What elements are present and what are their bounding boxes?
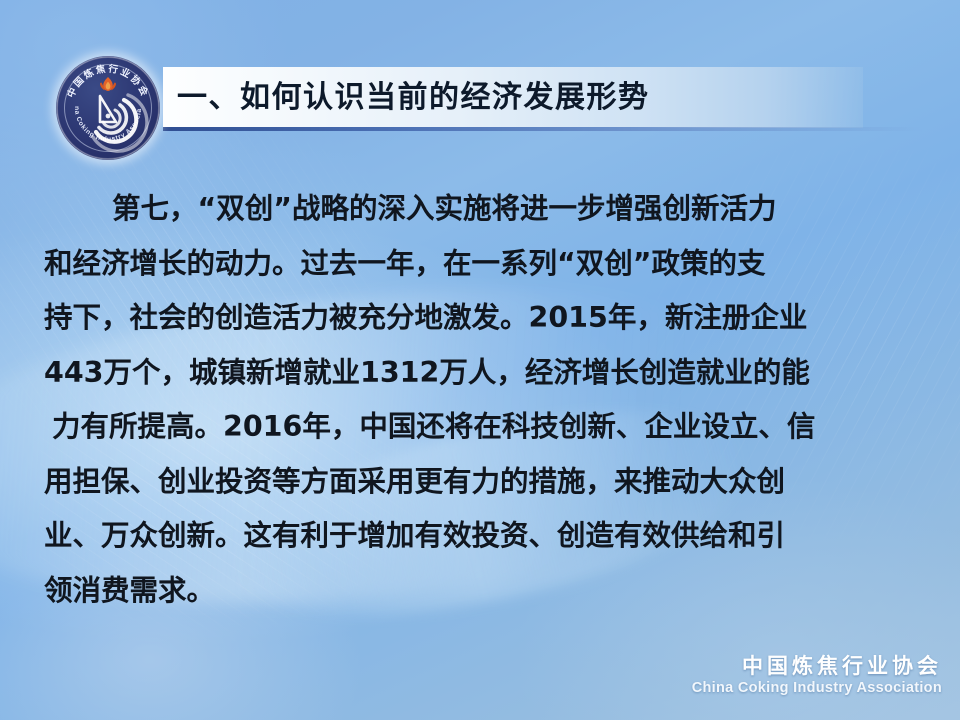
- page-title: 一、如何认识当前的经济发展形势: [163, 83, 650, 113]
- body-line-6: 用担保、创业投资等方面采用更有力的措施，来推动大众创: [44, 455, 916, 510]
- body-line-1: 第七，“双创”战略的深入实施将进一步增强创新活力: [44, 182, 916, 237]
- slide-canvas: 一、如何认识当前的经济发展形势 中国炼焦行业协会 China Coking In…: [0, 0, 960, 720]
- body-line-5: 力有所提高。2016年，中国还将在科技创新、企业设立、信: [44, 400, 916, 455]
- body-line-7: 业、万众创新。这有利于增加有效投资、创造有效供给和引: [44, 509, 916, 564]
- body-line-2: 和经济增长的动力。过去一年，在一系列“双创”政策的支: [44, 237, 916, 292]
- slide-title-bar: 一、如何认识当前的经济发展形势: [163, 67, 863, 128]
- body-line-3: 持下，社会的创造活力被充分地激发。2015年，新注册企业: [44, 291, 916, 346]
- association-logo: 中国炼焦行业协会 China Coking Industry Associati…: [56, 56, 160, 160]
- title-underline-divider: [163, 127, 923, 131]
- footer-organization-en: China Coking Industry Association: [692, 681, 942, 696]
- association-logo-emblem-icon: 中国炼焦行业协会 China Coking Industry Associati…: [56, 56, 160, 160]
- slide-body-text: 第七，“双创”战略的深入实施将进一步增强创新活力 和经济增长的动力。过去一年，在…: [44, 182, 916, 618]
- body-line-8: 领消费需求。: [44, 564, 916, 619]
- footer-branding: 中国炼焦行业协会 China Coking Industry Associati…: [692, 655, 942, 696]
- footer-organization-cn: 中国炼焦行业协会: [692, 655, 942, 677]
- body-line-4: 443万个，城镇新增就业1312万人，经济增长创造就业的能: [44, 346, 916, 401]
